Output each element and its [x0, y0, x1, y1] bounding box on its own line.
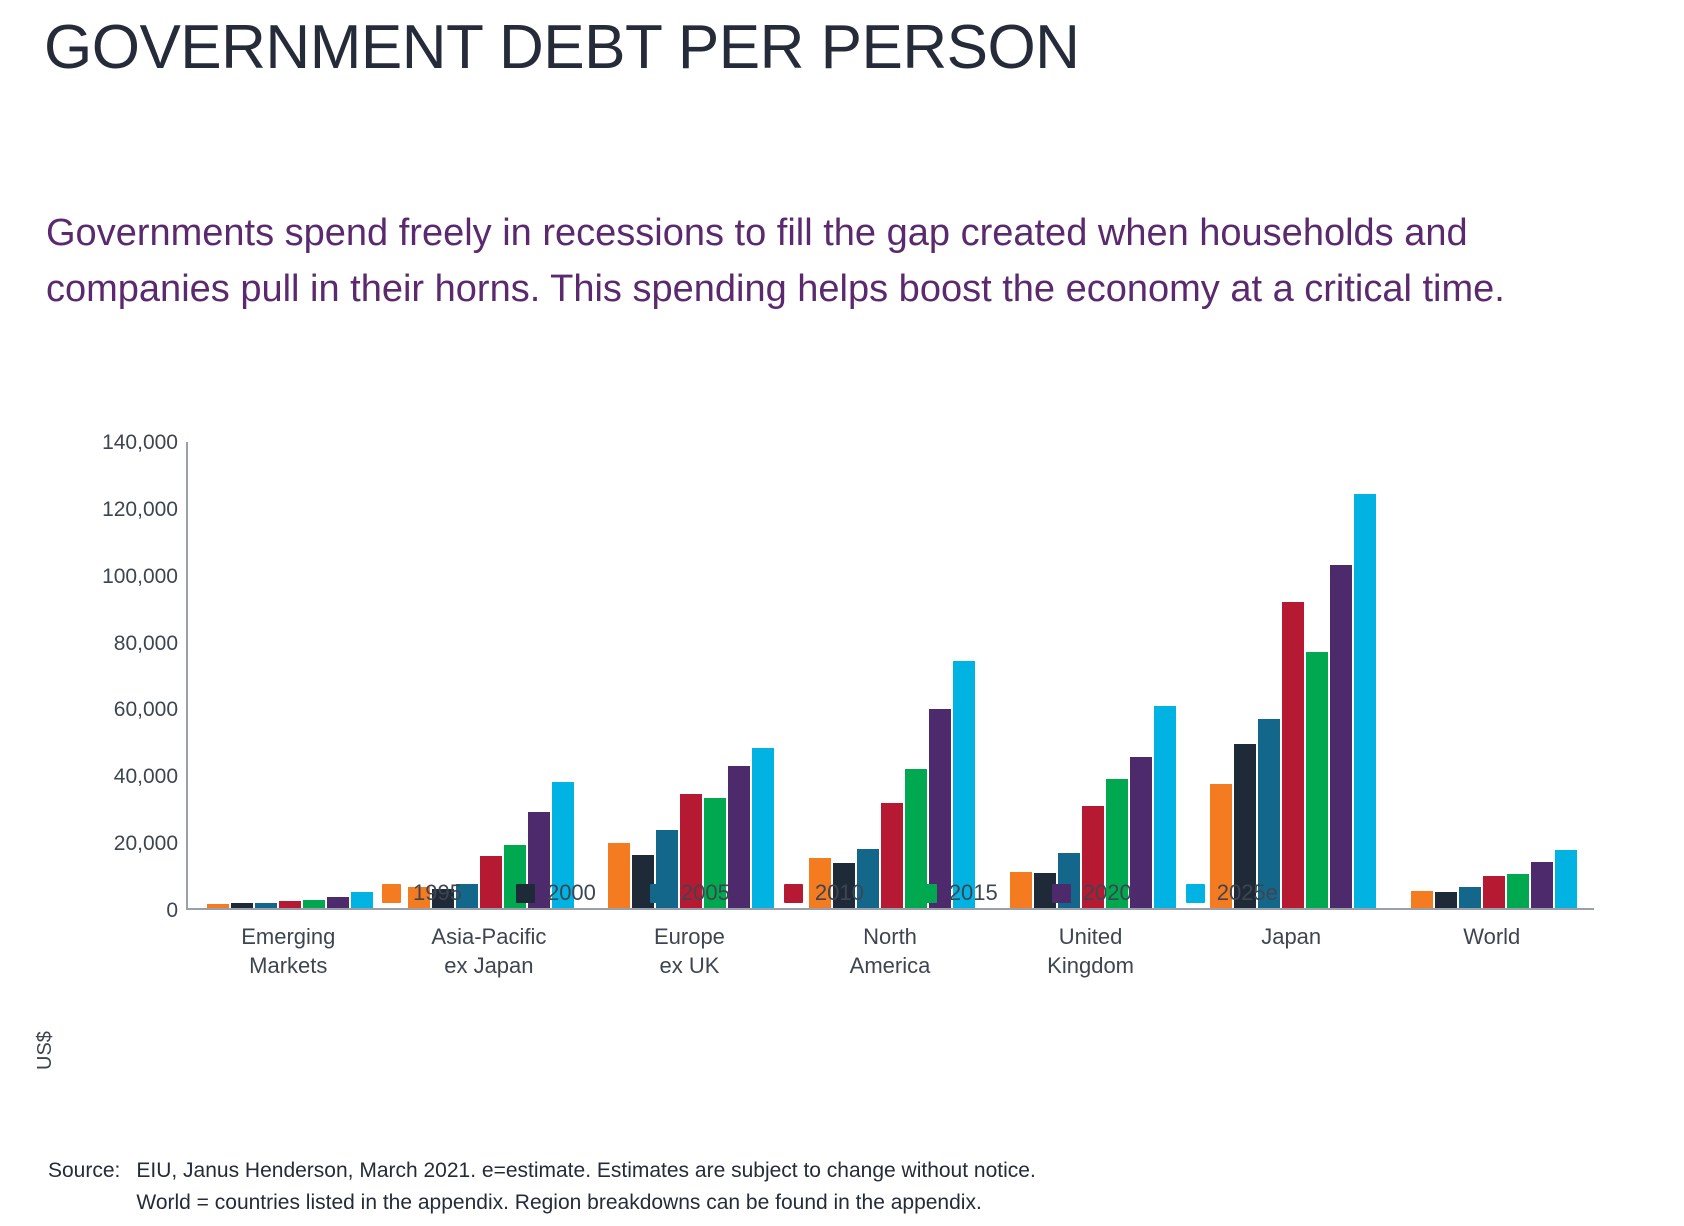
bar-group	[591, 442, 792, 908]
legend-item-1995[interactable]: 1995	[382, 880, 462, 906]
legend-swatch-icon	[382, 884, 401, 903]
bar-2015[interactable]	[1507, 874, 1529, 908]
y-axis-label: US$	[34, 1031, 57, 1070]
y-axis-tick: 20,000	[66, 832, 178, 856]
bar-2020[interactable]	[1330, 565, 1352, 908]
bar-1995[interactable]	[207, 904, 229, 908]
legend-label: 2015	[949, 880, 998, 906]
legend-swatch-icon	[784, 884, 803, 903]
bar-group	[1193, 442, 1394, 908]
source-body: EIU, Janus Henderson, March 2021. e=esti…	[136, 1155, 1035, 1219]
y-axis-tick: 120,000	[66, 498, 178, 522]
bar-2010[interactable]	[1282, 602, 1304, 908]
legend-item-2020[interactable]: 2020	[1052, 880, 1132, 906]
legend-label: 2020	[1083, 880, 1132, 906]
legend-label: 1995	[413, 880, 462, 906]
bar-group	[992, 442, 1193, 908]
source-line-2: World = countries listed in the appendix…	[136, 1187, 1035, 1219]
legend-label: 2000	[547, 880, 596, 906]
chart-legend: 1995200020052010201520202025e	[382, 880, 1278, 906]
source-footnote: Source: EIU, Janus Henderson, March 2021…	[48, 1155, 1036, 1219]
legend-item-2000[interactable]: 2000	[516, 880, 596, 906]
bar-2000[interactable]	[1435, 892, 1457, 908]
x-axis-label: World	[1391, 922, 1592, 980]
legend-item-2005[interactable]: 2005	[650, 880, 730, 906]
source-label: Source:	[48, 1155, 120, 1219]
legend-label: 2005	[681, 880, 730, 906]
legend-label: 2025e	[1217, 880, 1278, 906]
bar-2015[interactable]	[303, 900, 325, 908]
y-axis-tick: 100,000	[66, 565, 178, 589]
legend-swatch-icon	[918, 884, 937, 903]
y-axis-tick: 0	[66, 899, 178, 923]
legend-swatch-icon	[516, 884, 535, 903]
y-axis-ticks: 020,00040,00060,00080,000100,000120,0001…	[60, 430, 178, 990]
legend-item-2015[interactable]: 2015	[918, 880, 998, 906]
plot-area	[186, 442, 1594, 910]
bar-2020[interactable]	[327, 897, 349, 908]
legend-swatch-icon	[1052, 884, 1071, 903]
bar-2005[interactable]	[255, 903, 277, 908]
bar-2020[interactable]	[929, 709, 951, 908]
x-axis-label: United Kingdom	[990, 922, 1191, 980]
bar-2025e[interactable]	[1354, 494, 1376, 909]
subtitle-text: Governments spend freely in recessions t…	[46, 205, 1646, 317]
bar-group	[1393, 442, 1594, 908]
bar-group	[792, 442, 993, 908]
bar-2025e[interactable]	[953, 661, 975, 908]
legend-swatch-icon	[1186, 884, 1205, 903]
bar-group	[190, 442, 391, 908]
bar-1995[interactable]	[1411, 891, 1433, 908]
bar-2025e[interactable]	[1154, 706, 1176, 908]
bar-2015[interactable]	[1306, 652, 1328, 908]
legend-item-2025e[interactable]: 2025e	[1186, 880, 1278, 906]
y-axis-tick: 140,000	[66, 431, 178, 455]
x-axis-label: North America	[790, 922, 991, 980]
page-title: GOVERNMENT DEBT PER PERSON	[44, 12, 1079, 83]
x-axis-labels: Emerging MarketsAsia-Pacific ex JapanEur…	[188, 922, 1592, 980]
x-axis-label: Emerging Markets	[188, 922, 389, 980]
x-axis-label: Asia-Pacific ex Japan	[389, 922, 590, 980]
bar-2010[interactable]	[1483, 876, 1505, 908]
bar-2025e[interactable]	[1555, 850, 1577, 908]
bar-2000[interactable]	[231, 903, 253, 908]
x-axis-label: Europe ex UK	[589, 922, 790, 980]
bar-groups	[190, 442, 1594, 908]
y-axis-tick: 60,000	[66, 698, 178, 722]
source-line-1: EIU, Janus Henderson, March 2021. e=esti…	[136, 1155, 1035, 1187]
slide: GOVERNMENT DEBT PER PERSON Governments s…	[0, 0, 1684, 1226]
x-axis-label: Japan	[1191, 922, 1392, 980]
y-axis-tick: 80,000	[66, 632, 178, 656]
legend-label: 2010	[815, 880, 864, 906]
bar-2005[interactable]	[1459, 887, 1481, 908]
bar-2020[interactable]	[1531, 862, 1553, 908]
bar-chart: US$ 020,00040,00060,00080,000100,000120,…	[0, 430, 1684, 990]
legend-item-2010[interactable]: 2010	[784, 880, 864, 906]
bar-2010[interactable]	[279, 901, 301, 908]
bar-group	[391, 442, 592, 908]
legend-swatch-icon	[650, 884, 669, 903]
y-axis-tick: 40,000	[66, 765, 178, 789]
bar-2025e[interactable]	[351, 892, 373, 908]
